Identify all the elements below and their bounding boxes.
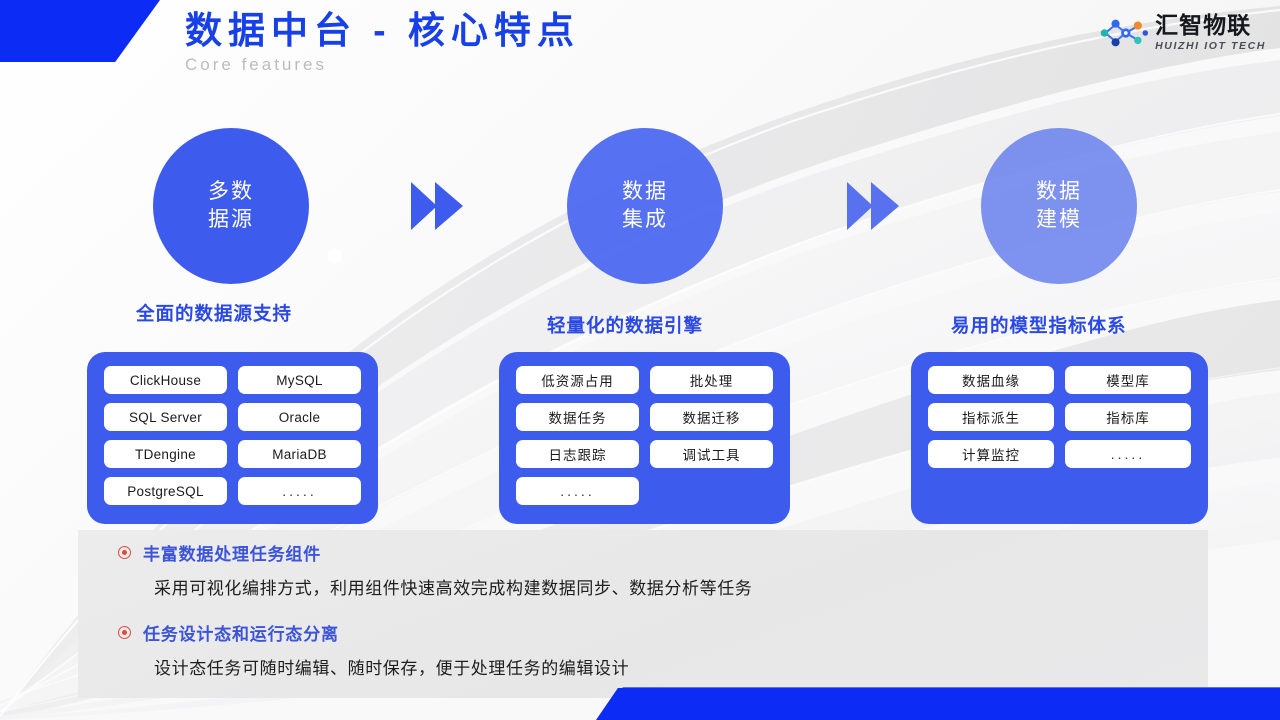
chip-more[interactable]: ..... xyxy=(1065,440,1191,468)
chip-item[interactable]: 模型库 xyxy=(1065,366,1191,394)
chip-item[interactable]: 计算监控 xyxy=(928,440,1054,468)
corner-decor-bottom-right xyxy=(596,688,1280,720)
chip-item[interactable]: 数据任务 xyxy=(516,403,639,431)
flow-step-1: 多数 据源 xyxy=(153,128,309,284)
title-block: 数据中台 - 核心特点 Core features xyxy=(185,8,580,75)
note-title: 丰富数据处理任务组件 xyxy=(143,540,321,565)
flow-step-2-line1: 数据 xyxy=(622,178,668,206)
flow-step-3-line2: 建模 xyxy=(1036,206,1082,234)
chip-item[interactable]: 数据血缘 xyxy=(928,366,1054,394)
flow-step-3: 数据 建模 xyxy=(981,128,1137,284)
flow-step-1-line1: 多数 xyxy=(208,178,254,206)
chip-item[interactable]: 指标派生 xyxy=(928,403,1054,431)
note-head: 丰富数据处理任务组件 xyxy=(78,540,1208,565)
chip-item[interactable]: MariaDB xyxy=(238,440,361,468)
chip-item[interactable]: ClickHouse xyxy=(104,366,227,394)
page-subtitle: Core features xyxy=(185,55,580,75)
double-chevron-right-icon xyxy=(409,178,467,234)
page-title: 数据中台 - 核心特点 xyxy=(185,8,580,54)
flow-step-2-line2: 集成 xyxy=(622,206,668,234)
slide-header: 数据中台 - 核心特点 Core features xyxy=(0,0,1280,80)
group-label-datasources: 全面的数据源支持 xyxy=(136,300,292,326)
red-ring-bullet-icon xyxy=(118,546,131,559)
brand-logo: 汇智物联 HUIZHI IOT TECH xyxy=(1097,14,1266,52)
logo-name-cn: 汇智物联 xyxy=(1155,14,1266,37)
flow-step-3-line1: 数据 xyxy=(1036,178,1082,206)
note-head: 任务设计态和运行态分离 xyxy=(78,620,1208,645)
chip-item[interactable]: TDengine xyxy=(104,440,227,468)
note-body: 设计态任务可随时编辑、随时保存，便于处理任务的编辑设计 xyxy=(78,654,1208,679)
chip-item[interactable]: Oracle xyxy=(238,403,361,431)
note-title: 任务设计态和运行态分离 xyxy=(143,620,339,645)
note-item: 任务设计态和运行态分离设计态任务可随时编辑、随时保存，便于处理任务的编辑设计 xyxy=(78,620,1208,679)
group-box-model: 数据血缘模型库指标派生指标库计算监控..... xyxy=(911,352,1208,524)
notes-panel: 丰富数据处理任务组件采用可视化编排方式，利用组件快速高效完成构建数据同步、数据分… xyxy=(78,530,1208,698)
logo-text-block: 汇智物联 HUIZHI IOT TECH xyxy=(1155,14,1266,52)
chip-item[interactable]: 低资源占用 xyxy=(516,366,639,394)
note-body: 采用可视化编排方式，利用组件快速高效完成构建数据同步、数据分析等任务 xyxy=(78,574,1208,599)
chip-item[interactable]: PostgreSQL xyxy=(104,477,227,505)
red-ring-bullet-icon xyxy=(118,626,131,639)
chip-more[interactable]: ..... xyxy=(516,477,639,505)
group-box-datasources: ClickHouseMySQLSQL ServerOracleTDengineM… xyxy=(87,352,378,524)
flow-step-2: 数据 集成 xyxy=(567,128,723,284)
chip-item[interactable]: MySQL xyxy=(238,366,361,394)
group-box-engine: 低资源占用批处理数据任务数据迁移日志跟踪调试工具..... xyxy=(499,352,790,524)
double-chevron-right-icon xyxy=(845,178,903,234)
group-label-engine: 轻量化的数据引擎 xyxy=(547,312,703,338)
note-item: 丰富数据处理任务组件采用可视化编排方式，利用组件快速高效完成构建数据同步、数据分… xyxy=(78,540,1208,599)
chip-item[interactable]: 批处理 xyxy=(650,366,773,394)
group-label-model: 易用的模型指标体系 xyxy=(951,312,1127,338)
chip-item[interactable]: 数据迁移 xyxy=(650,403,773,431)
flow-step-1-line2: 据源 xyxy=(208,206,254,234)
accent-dot-icon xyxy=(328,249,342,263)
huizhi-network-logo-icon xyxy=(1097,14,1149,52)
chip-more[interactable]: ..... xyxy=(238,477,361,505)
chip-item[interactable]: SQL Server xyxy=(104,403,227,431)
chip-item[interactable]: 调试工具 xyxy=(650,440,773,468)
slide-canvas: 数据中台 - 核心特点 Core features 汇智物联 HUIZHI IO… xyxy=(0,0,1280,720)
chip-item[interactable]: 指标库 xyxy=(1065,403,1191,431)
chip-item[interactable]: 日志跟踪 xyxy=(516,440,639,468)
logo-name-en: HUIZHI IOT TECH xyxy=(1155,41,1266,52)
